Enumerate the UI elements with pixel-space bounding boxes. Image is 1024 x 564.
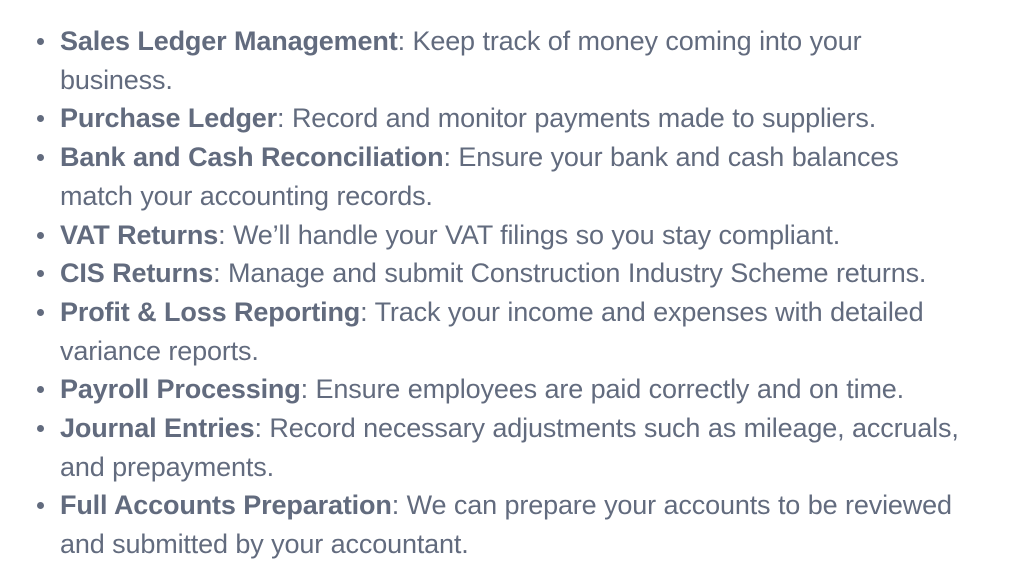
list-item-description: : Record and monitor payments made to su… — [277, 103, 876, 133]
list-bullet-icon — [37, 232, 44, 239]
list-item: Payroll Processing: Ensure employees are… — [0, 370, 962, 409]
list-bullet-icon — [37, 270, 44, 277]
list-bullet-icon — [37, 115, 44, 122]
list-item-description: : Manage and submit Construction Industr… — [213, 258, 926, 288]
list-item-term: Journal Entries — [60, 413, 255, 443]
list-bullet-icon — [37, 502, 44, 509]
list-bullet-icon — [37, 386, 44, 393]
list-item: Purchase Ledger: Record and monitor paym… — [0, 99, 962, 138]
list-item-term: Payroll Processing — [60, 374, 301, 404]
list-item-term: Profit & Loss Reporting — [60, 297, 360, 327]
list-item-term: CIS Returns — [60, 258, 213, 288]
list-item: Journal Entries: Record necessary adjust… — [0, 409, 962, 486]
list-item-term: Full Accounts Preparation — [60, 490, 392, 520]
services-list: Sales Ledger Management: Keep track of m… — [0, 22, 962, 564]
list-item-term: Sales Ledger Management — [60, 26, 398, 56]
list-bullet-icon — [37, 38, 44, 45]
services-content-page: Sales Ledger Management: Keep track of m… — [0, 0, 1024, 558]
list-item: Full Accounts Preparation: We can prepar… — [0, 486, 962, 563]
list-item-term: VAT Returns — [60, 220, 218, 250]
list-item: Bank and Cash Reconciliation: Ensure you… — [0, 138, 962, 215]
list-item: CIS Returns: Manage and submit Construct… — [0, 254, 962, 293]
list-bullet-icon — [37, 425, 44, 432]
list-bullet-icon — [37, 154, 44, 161]
list-item-term: Bank and Cash Reconciliation — [60, 142, 443, 172]
list-item: Sales Ledger Management: Keep track of m… — [0, 22, 962, 99]
list-item-description: : Ensure employees are paid correctly an… — [301, 374, 904, 404]
list-item: Profit & Loss Reporting: Track your inco… — [0, 293, 962, 370]
list-item-term: Purchase Ledger — [60, 103, 277, 133]
list-item-description: : We’ll handle your VAT filings so you s… — [218, 220, 840, 250]
list-item: VAT Returns: We’ll handle your VAT filin… — [0, 216, 962, 255]
list-bullet-icon — [37, 309, 44, 316]
